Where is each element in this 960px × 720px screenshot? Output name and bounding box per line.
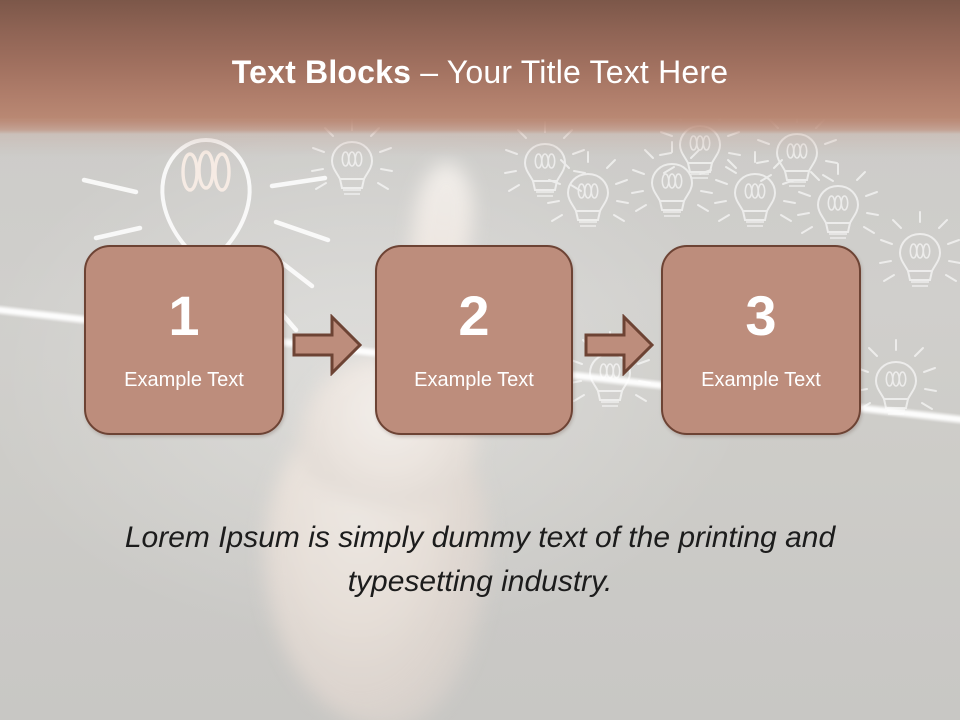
pointing-hand-photo (258, 150, 508, 720)
text-block-2-number: 2 (377, 285, 571, 347)
text-block-1-number: 1 (86, 285, 282, 347)
title-light-part: Your Title Text Here (447, 54, 728, 90)
arrow-right-icon (584, 314, 654, 376)
text-block-1[interactable]: 1 Example Text (84, 245, 284, 435)
arrow-right-icon (292, 314, 362, 376)
slide-caption: Lorem Ipsum is simply dummy text of the … (90, 516, 870, 604)
title-bold-part: Text Blocks (232, 54, 411, 90)
text-block-3-number: 3 (663, 285, 859, 347)
arrow-1-to-2-icon (292, 314, 362, 376)
arrow-2-to-3-icon (584, 314, 654, 376)
title-separator: – (411, 54, 447, 90)
text-block-1-label[interactable]: Example Text (86, 367, 282, 393)
page-title: Text Blocks – Your Title Text Here (0, 52, 960, 92)
header-fade (0, 120, 960, 156)
text-block-2[interactable]: 2 Example Text (375, 245, 573, 435)
text-block-3[interactable]: 3 Example Text (661, 245, 861, 435)
text-block-3-label[interactable]: Example Text (663, 367, 859, 393)
text-block-2-label[interactable]: Example Text (377, 367, 571, 393)
slide-canvas: Text Blocks – Your Title Text Here 1 Exa… (0, 0, 960, 720)
